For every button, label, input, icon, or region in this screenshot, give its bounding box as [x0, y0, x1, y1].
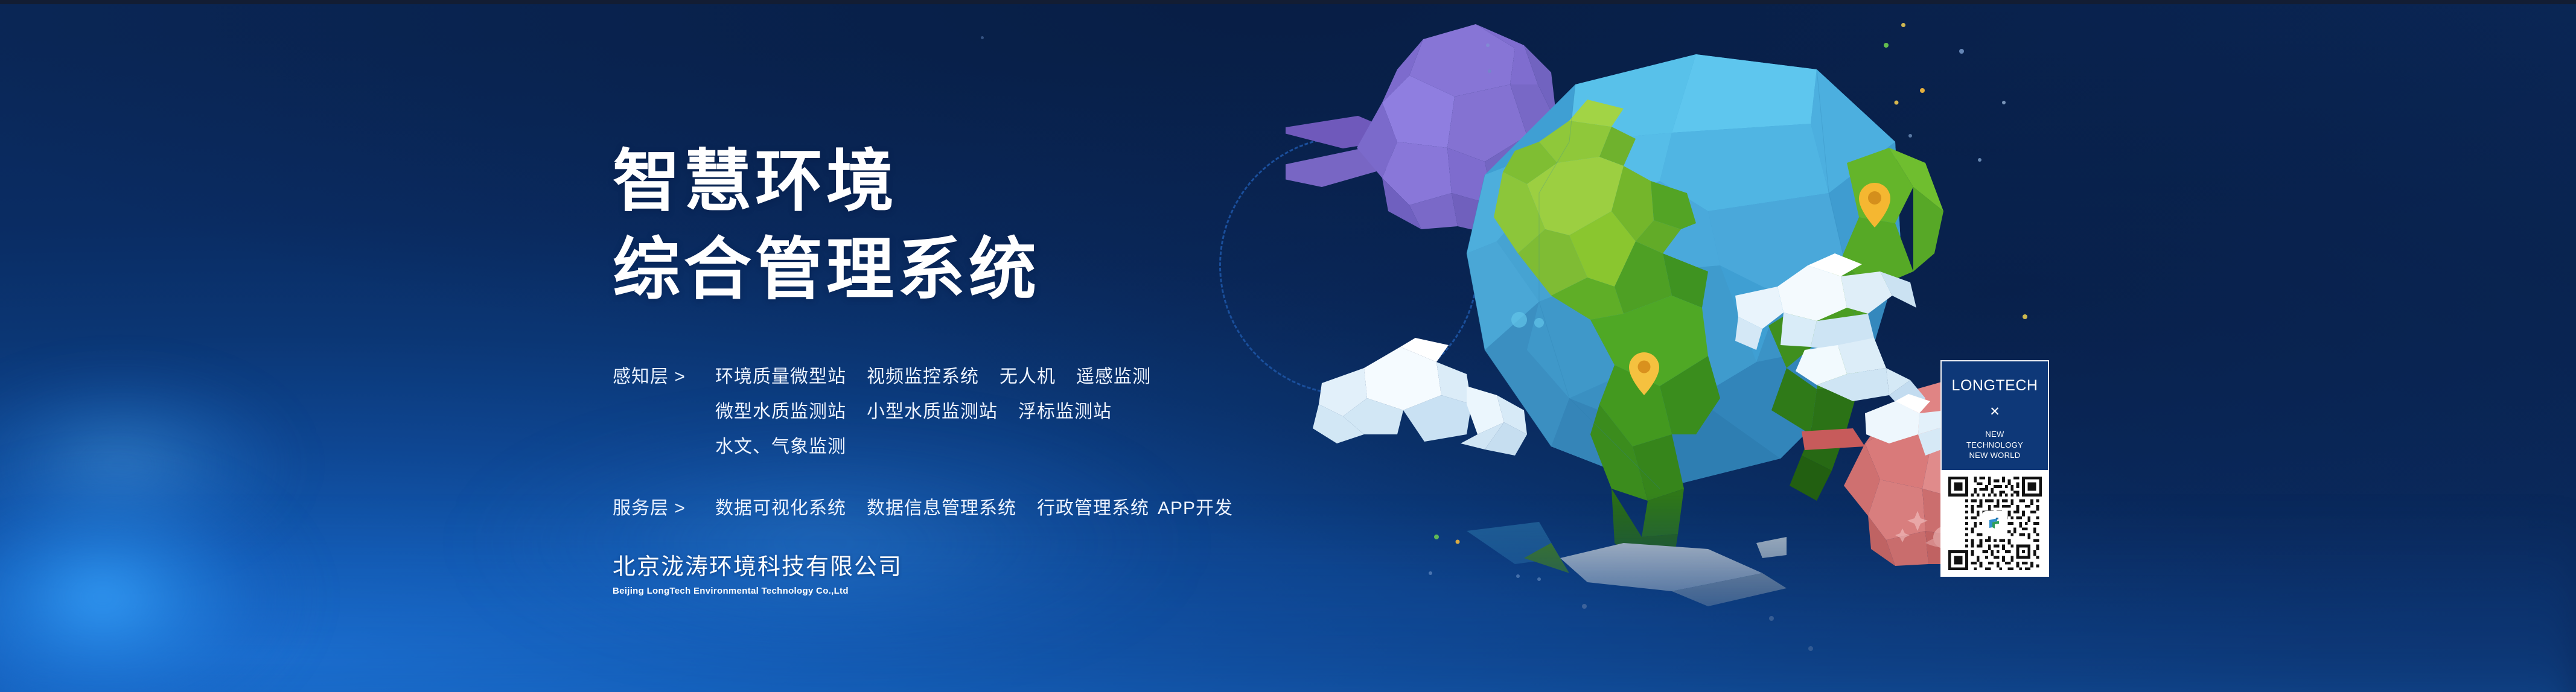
qr-center-logo-icon	[1983, 512, 2006, 535]
company-name-cn: 北京泷涛环境科技有限公司	[613, 554, 902, 582]
top-strip	[0, 0, 2576, 4]
company-name-en: Beijing LongTech Environmental Technolog…	[613, 586, 902, 597]
tagline-line-3: NEW WORLD	[1966, 450, 2023, 461]
layer-item[interactable]: 视频监控系统	[867, 364, 979, 390]
brand-tagline: NEW TECHNOLOGY NEW WORLD	[1966, 429, 2023, 461]
layer-item[interactable]: 数据可视化系统	[715, 495, 846, 522]
layer-item[interactable]: 浮标监测站	[1018, 399, 1112, 425]
layer-item[interactable]: 遥感监测	[1076, 364, 1151, 390]
layer-item[interactable]: 行政管理系统	[1037, 495, 1149, 522]
hero-copy: 智慧环境 综合管理系统 感知层 > 环境质量微型站 视频监控系统 无人机 遥感监…	[613, 138, 1397, 557]
layer-item[interactable]: 水文、气象监测	[715, 434, 846, 460]
layer-row-perception: 感知层 > 环境质量微型站 视频监控系统 无人机 遥感监测 微型水质监测站 小型…	[613, 364, 1397, 460]
layer-label-service: 服务层 >	[613, 495, 702, 522]
layer-list: 感知层 > 环境质量微型站 视频监控系统 无人机 遥感监测 微型水质监测站 小型…	[613, 364, 1397, 522]
star-dot	[1488, 69, 1491, 73]
tagline-line-2: TECHNOLOGY	[1966, 440, 2023, 451]
layer-item[interactable]: 数据信息管理系统	[867, 495, 1016, 522]
background-glow-left	[0, 416, 374, 692]
qr-card-header: LONGTECH ✕ NEW TECHNOLOGY NEW WORLD	[1940, 360, 2049, 470]
star-dot	[981, 36, 984, 39]
banner-root: 智慧环境 综合管理系统 感知层 > 环境质量微型站 视频监控系统 无人机 遥感监…	[0, 0, 2576, 692]
page-title-line1: 智慧环境	[613, 138, 1397, 226]
layer-item[interactable]: 无人机	[999, 364, 1056, 390]
layer-items-perception: 环境质量微型站 视频监控系统 无人机 遥感监测 微型水质监测站 小型水质监测站 …	[715, 364, 1222, 460]
brand-name: LONGTECH	[1952, 378, 2038, 393]
tagline-line-1: NEW	[1966, 429, 2023, 440]
layer-items-service: 数据可视化系统 数据信息管理系统 行政管理系统 APP开发	[715, 495, 1222, 522]
layer-label-perception: 感知层 >	[613, 364, 702, 390]
qr-card[interactable]: LONGTECH ✕ NEW TECHNOLOGY NEW WORLD	[1940, 360, 2049, 574]
layer-row-service: 服务层 > 数据可视化系统 数据信息管理系统 行政管理系统 APP开发	[613, 495, 1397, 522]
layer-item[interactable]: APP开发	[1158, 495, 1233, 522]
cross-separator-icon: ✕	[1989, 405, 2000, 418]
layer-subline: 水文、气象监测	[715, 434, 1222, 460]
company-block: 北京泷涛环境科技有限公司 Beijing LongTech Environmen…	[613, 554, 902, 597]
page-title-line2: 综合管理系统	[613, 226, 1397, 314]
layer-item[interactable]: 微型水质监测站	[715, 399, 846, 425]
layer-subline: 环境质量微型站 视频监控系统 无人机 遥感监测	[715, 364, 1222, 390]
layer-subline: 微型水质监测站 小型水质监测站 浮标监测站	[715, 399, 1222, 425]
layer-subline: 数据可视化系统 数据信息管理系统 行政管理系统 APP开发	[715, 495, 1222, 522]
qr-code-image[interactable]	[1948, 477, 2042, 570]
layer-item[interactable]: 小型水质监测站	[867, 399, 998, 425]
layer-item[interactable]: 环境质量微型站	[715, 364, 846, 390]
qr-code-panel[interactable]	[1940, 470, 2049, 577]
star-dot	[1901, 23, 1905, 27]
